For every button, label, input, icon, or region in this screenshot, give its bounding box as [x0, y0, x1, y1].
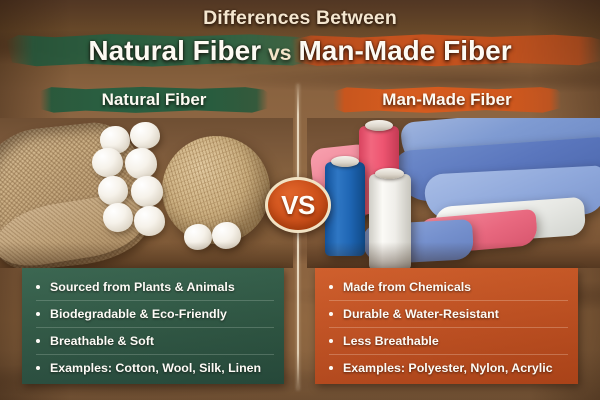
photo-natural-fiber [0, 118, 293, 268]
cotton-boll [134, 206, 165, 236]
vs-badge: VS [265, 177, 331, 233]
list-item: Sourced from Plants & Animals [36, 274, 274, 300]
cotton-boll [98, 176, 128, 205]
header: Differences Between Natural FibervsMan-M… [0, 0, 600, 82]
thread-spool-pink-cap [365, 120, 393, 131]
cotton-boll [103, 203, 133, 232]
thread-spool-white-cap [375, 168, 404, 179]
page-title-vs: vs [264, 42, 295, 65]
cotton-boll [92, 148, 123, 177]
page-title: Natural FibervsMan-Made Fiber [0, 32, 600, 72]
photo-man-made-fiber [307, 118, 600, 268]
panel-man-made-fiber: Made from Chemicals Durable & Water-Resi… [315, 268, 578, 384]
thread-spool-blue-cap [331, 156, 359, 167]
page-title-left: Natural Fiber [85, 35, 264, 66]
list-item: Biodegradable & Eco-Friendly [36, 300, 274, 327]
cotton-boll [130, 122, 160, 149]
list-item: Examples: Cotton, Wool, Silk, Linen [36, 354, 274, 381]
infographic-canvas: Differences Between Natural FibervsMan-M… [0, 0, 600, 400]
bullet-list-man-made-fiber: Made from Chemicals Durable & Water-Resi… [329, 274, 568, 381]
list-item: Durable & Water-Resistant [329, 300, 568, 327]
list-item: Examples: Polyester, Nylon, Acrylic [329, 354, 568, 381]
page-title-right: Man-Made Fiber [295, 35, 514, 66]
panel-natural-fiber: Sourced from Plants & Animals Biodegrada… [22, 268, 284, 384]
cotton-boll [125, 148, 157, 179]
title-eyebrow: Differences Between [0, 7, 600, 30]
vs-badge-label: VS [281, 192, 315, 219]
list-item: Less Breathable [329, 327, 568, 354]
photo-left-shadow [0, 242, 293, 268]
photo-right-shadow [307, 242, 600, 268]
list-item: Breathable & Soft [36, 327, 274, 354]
list-item: Made from Chemicals [329, 274, 568, 300]
bullet-list-natural-fiber: Sourced from Plants & Animals Biodegrada… [36, 274, 274, 381]
section-heading-natural-fiber: Natural Fiber [40, 86, 268, 114]
section-heading-man-made-fiber: Man-Made Fiber [333, 86, 561, 114]
cotton-boll [131, 176, 163, 207]
vertical-divider [297, 84, 299, 390]
